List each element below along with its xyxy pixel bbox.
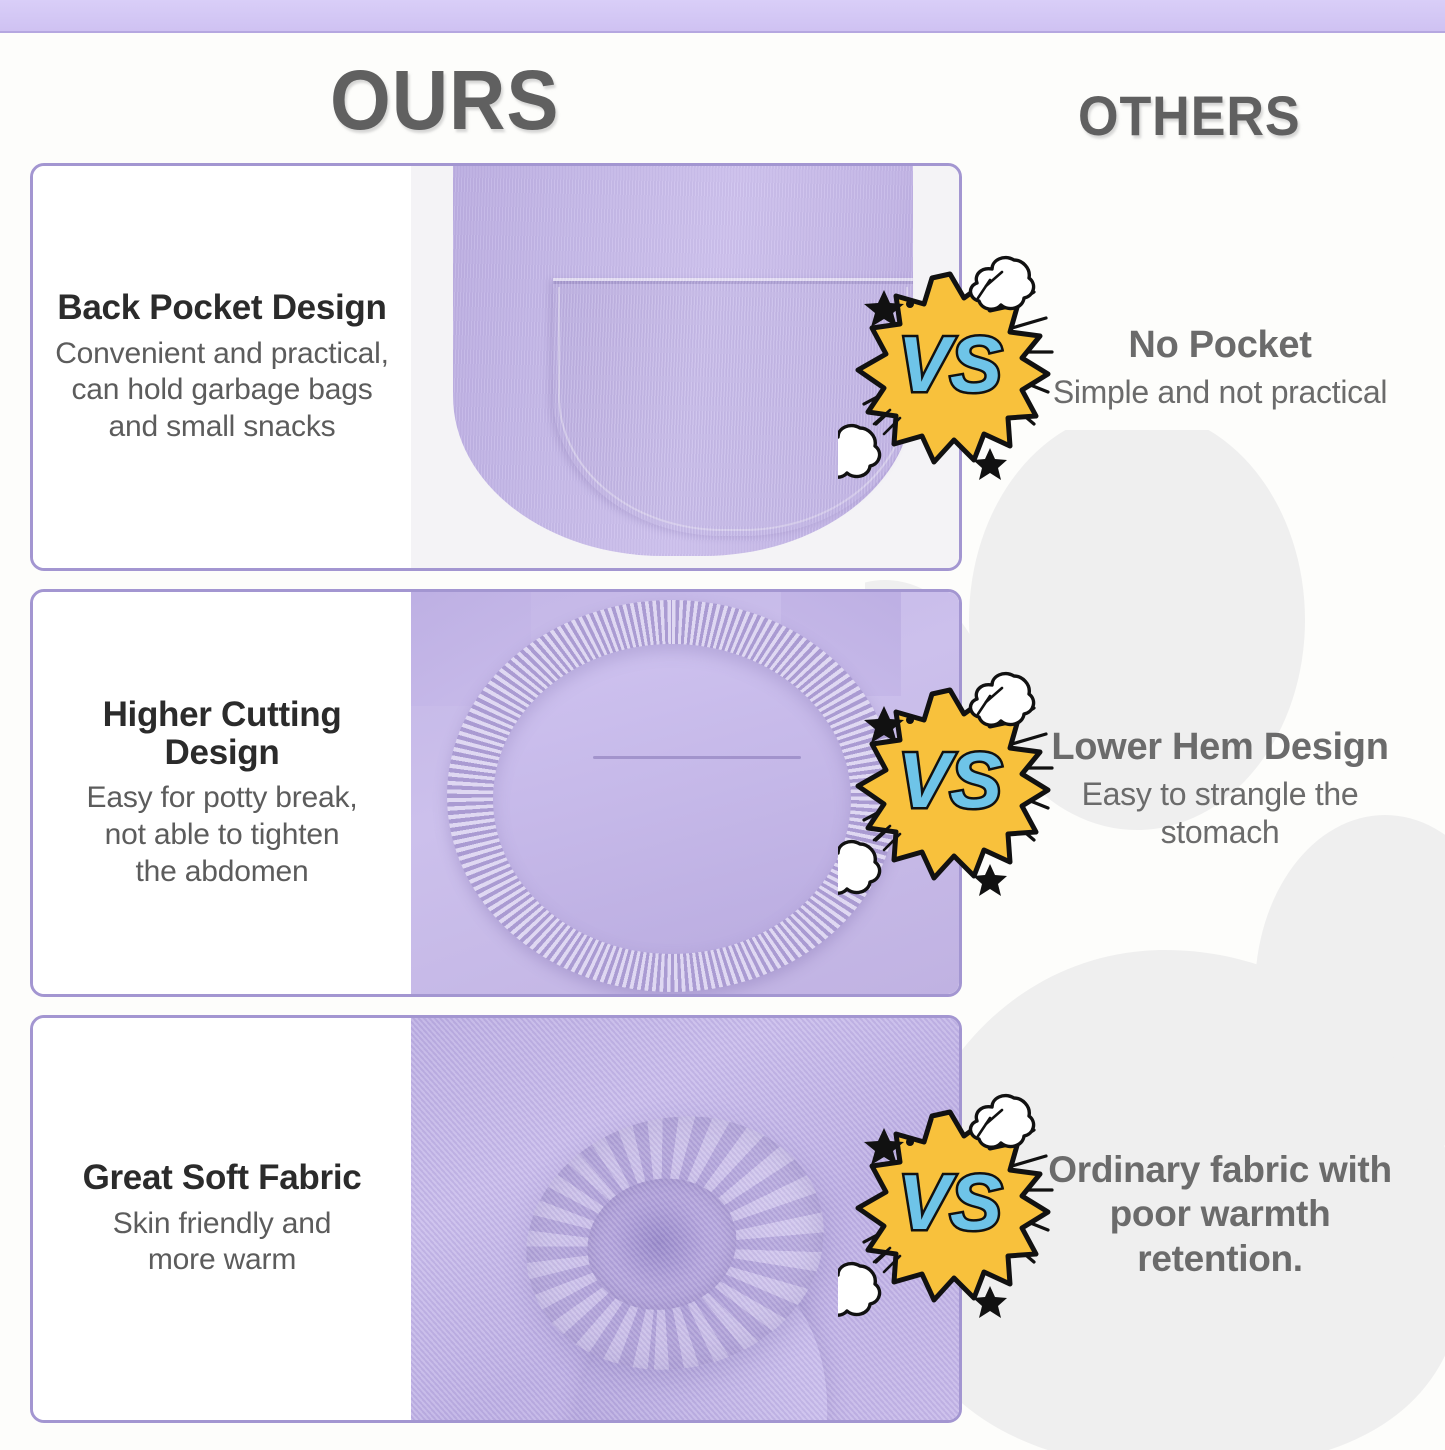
comparison-card-row-3: Great Soft Fabric Skin friendly andmore …	[30, 1015, 962, 1423]
others-feature-block-1: No Pocket Simple and not practical	[1010, 325, 1430, 411]
comparison-card-row-1: Back Pocket Design Convenient and practi…	[30, 163, 962, 571]
others-feature-desc-1: Simple and not practical	[1010, 373, 1430, 411]
ours-feature-block-1: Back Pocket Design Convenient and practi…	[33, 166, 411, 568]
ours-feature-title-3: Great Soft Fabric	[83, 1159, 362, 1197]
others-feature-title-1: No Pocket	[1010, 325, 1430, 367]
ours-feature-title-2: Higher CuttingDesign	[103, 696, 342, 772]
ours-feature-desc-2: Easy for potty break,not able to tighten…	[87, 780, 358, 890]
others-feature-title-3: Ordinary fabric withpoor warmthretention…	[1010, 1148, 1430, 1281]
ours-feature-block-3: Great Soft Fabric Skin friendly andmore …	[33, 1018, 411, 1420]
others-feature-title-2: Lower Hem Design	[1010, 727, 1430, 769]
ribbed-hem-opening-photo	[405, 592, 959, 994]
others-feature-block-3: Ordinary fabric withpoor warmthretention…	[1010, 1148, 1430, 1287]
top-accent-bar	[0, 0, 1445, 33]
comparison-card-row-2: Higher CuttingDesign Easy for potty brea…	[30, 589, 962, 997]
ours-feature-desc-1: Convenient and practical,can hold garbag…	[55, 336, 389, 446]
column-header-ours: OURS	[330, 52, 559, 149]
soft-knit-fabric-photo	[405, 1018, 959, 1420]
ours-feature-title-1: Back Pocket Design	[57, 289, 386, 327]
ours-feature-block-2: Higher CuttingDesign Easy for potty brea…	[33, 592, 411, 994]
others-feature-block-2: Lower Hem Design Easy to strangle thesto…	[1010, 727, 1430, 852]
ours-feature-desc-3: Skin friendly andmore warm	[113, 1206, 331, 1279]
others-feature-desc-2: Easy to strangle thestomach	[1010, 775, 1430, 852]
hoodie-back-pocket-photo	[405, 166, 959, 568]
column-header-others: OTHERS	[1078, 83, 1301, 148]
